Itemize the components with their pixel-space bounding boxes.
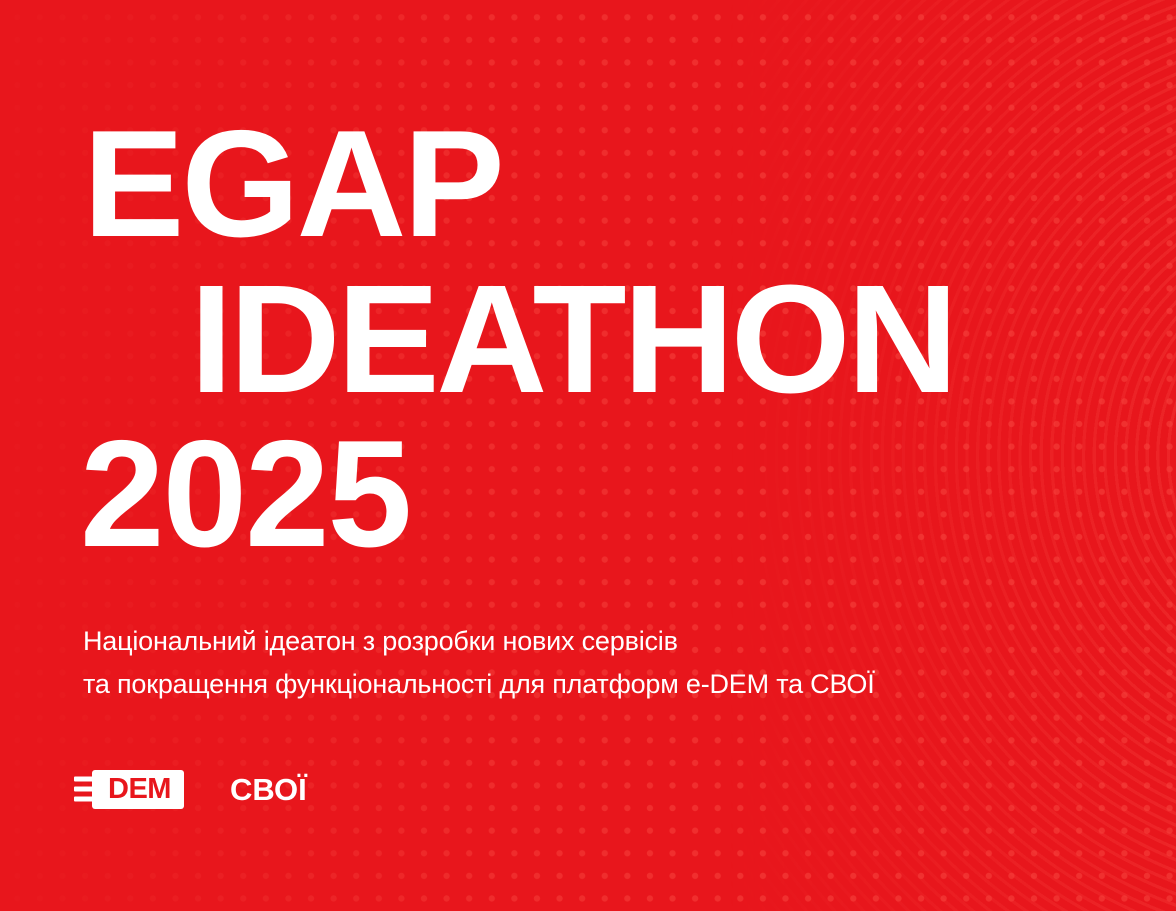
subtitle-line-2: та покращення функціональності для платф… bbox=[83, 663, 875, 706]
e-dem-logo[interactable]: DEM bbox=[74, 768, 184, 810]
subtitle-line-1: Національний ідеатон з розробки нових се… bbox=[83, 620, 875, 663]
headline-line-egap: EGAP bbox=[83, 108, 502, 260]
logo-row: DEM СВОЇ bbox=[74, 768, 307, 810]
headline-line-year: 2025 bbox=[80, 418, 410, 570]
poster-content: EGAP IDEATHON 2025 Національний ідеатон … bbox=[0, 0, 1176, 911]
poster-canvas: EGAP IDEATHON 2025 Національний ідеатон … bbox=[0, 0, 1176, 911]
svoi-logo[interactable]: СВОЇ bbox=[230, 774, 307, 805]
e-dem-logo-text: DEM bbox=[108, 775, 171, 804]
headline-line-ideathon: IDEATHON bbox=[190, 262, 955, 416]
subtitle-block: Національний ідеатон з розробки нових се… bbox=[83, 620, 875, 706]
e-dem-logo-box: DEM bbox=[92, 770, 184, 809]
